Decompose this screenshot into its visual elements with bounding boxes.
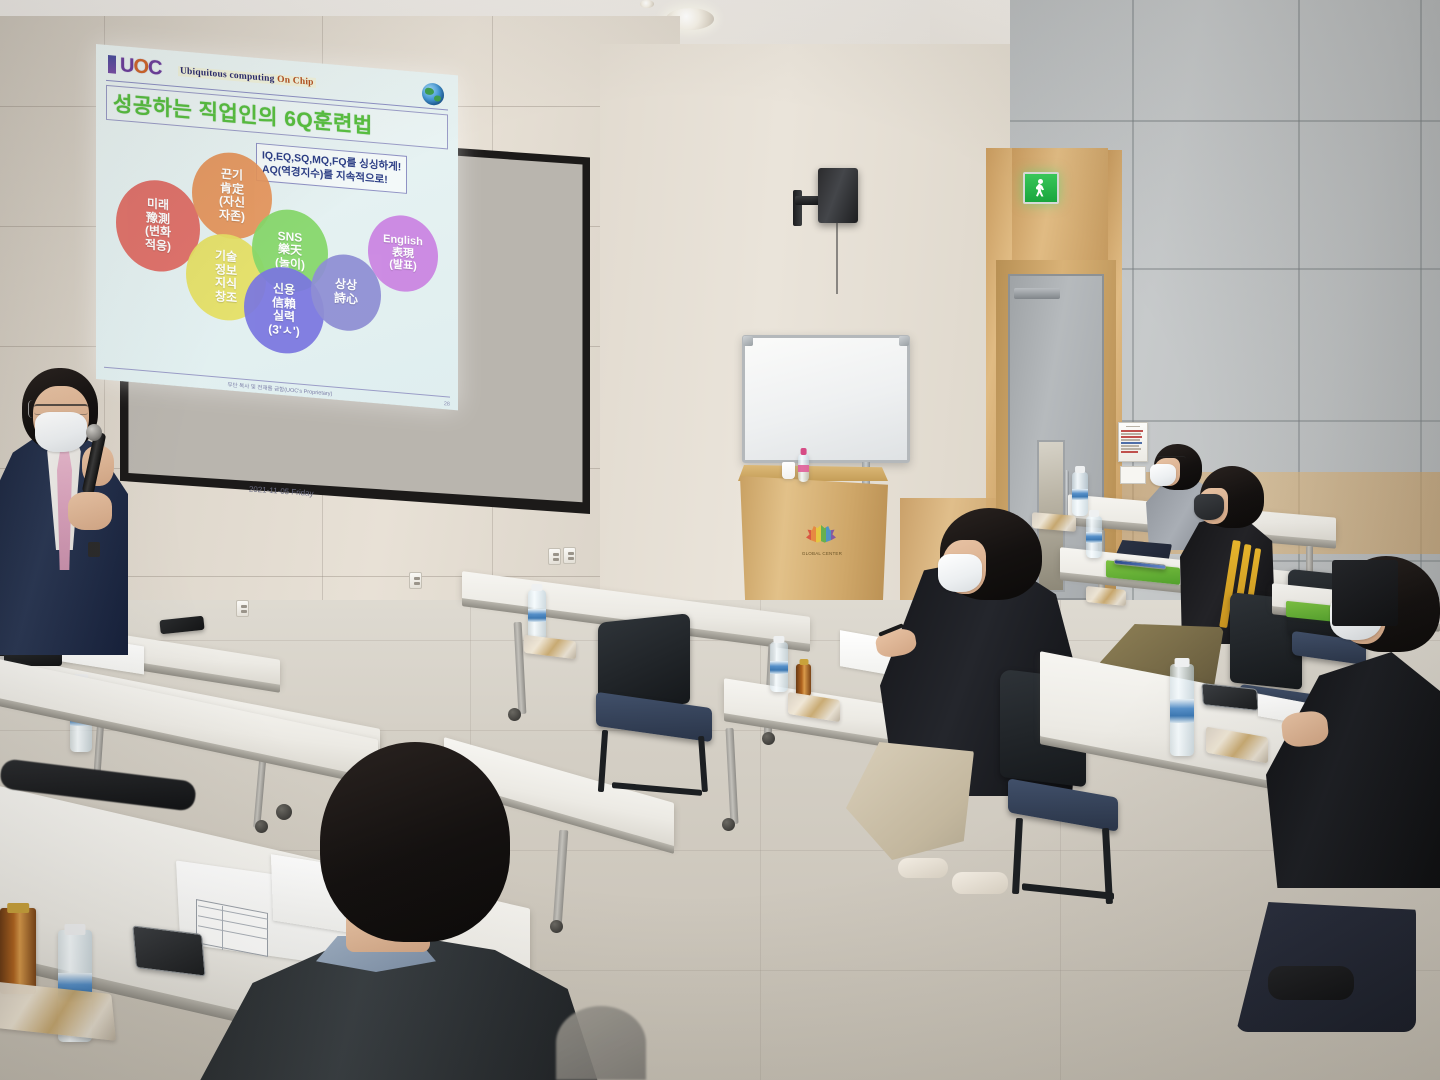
podium-cup <box>782 462 795 479</box>
attendee-center-foot <box>898 858 948 878</box>
bubble-label: SNS樂天(놀이) <box>275 229 305 272</box>
attendee-back-face-mask <box>1150 464 1176 486</box>
desk-caster <box>722 818 735 831</box>
mask-ear-loop <box>28 400 37 418</box>
bubble-diagram: IQ,EQ,SQ,MQ,FQ를 싱싱하게! AQ(역경지수)를 지속적으로! 미… <box>106 124 448 386</box>
water-bottle <box>1072 472 1088 516</box>
globe-icon <box>422 82 444 106</box>
smartphone[interactable] <box>132 925 205 976</box>
wall-wood-trim <box>1012 148 1108 266</box>
tea-bottle <box>796 664 811 696</box>
desk-caster <box>255 820 268 833</box>
ceiling-downlight-icon <box>640 0 654 8</box>
running-man-icon <box>1035 179 1048 198</box>
water-bottle <box>1170 664 1194 756</box>
pa-speaker-icon <box>818 168 858 223</box>
uoc-logo-o: O <box>133 55 148 78</box>
uoc-logo-bar-icon <box>108 55 116 74</box>
uoc-tagline-a: Ubiquitous computing <box>180 66 277 84</box>
attendee-center-foot <box>952 872 1008 894</box>
bubble-label: 기술정보지식창조 <box>215 249 237 305</box>
attendee-front-head <box>320 742 510 942</box>
attendee-midright-face-mask <box>1194 494 1224 520</box>
slide-page-number: 28 <box>444 401 450 408</box>
presenter-face-mask <box>35 412 87 452</box>
water-bottle <box>770 642 788 692</box>
attendee-rightedge-shoe <box>1268 966 1354 1000</box>
wall-notice-poster <box>1118 422 1148 462</box>
uoc-logo-tagline: Ubiquitous computing On Chip <box>178 66 316 88</box>
water-bottle <box>798 454 809 482</box>
uoc-logo-wordmark: UOC <box>120 54 161 81</box>
whiteboard <box>742 335 910 463</box>
presenter-hand <box>68 492 112 530</box>
foreground-chair-back[interactable] <box>556 1006 646 1080</box>
bubble-label: 끈기肯定(자신자존) <box>219 168 245 224</box>
bubble-label: 상상詩心 <box>334 278 358 307</box>
attendee-center-face-mask <box>938 554 982 592</box>
attendee-back-glasses <box>1156 456 1186 462</box>
water-bottle <box>528 590 546 640</box>
rear-monitor <box>1332 560 1398 626</box>
desk-caster <box>276 804 292 820</box>
tea-bottle <box>0 908 36 994</box>
desk-caster <box>762 732 775 745</box>
speaker-cable <box>836 222 838 294</box>
door-closer-hardware <box>1014 288 1060 299</box>
desk-caster <box>508 708 521 721</box>
wall-power-outlet[interactable] <box>409 572 422 589</box>
water-bottle <box>1086 516 1102 558</box>
slide-callout-box: IQ,EQ,SQ,MQ,FQ를 싱싱하게! AQ(역경지수)를 지속적으로! <box>256 143 407 194</box>
wall-power-outlet[interactable] <box>548 548 561 565</box>
uoc-logo-u: U <box>120 54 133 77</box>
uoc-tagline-b: On Chip <box>277 75 314 88</box>
microphone-head-icon <box>86 424 102 441</box>
uoc-logo-c: C <box>148 56 161 79</box>
bubble-label: 신용信賴실력(3'ㅅ') <box>268 282 299 339</box>
podium-organization-text: GLOBAL CENTER <box>800 551 844 556</box>
desk-caster <box>550 920 563 933</box>
handout-rule <box>222 906 223 950</box>
room-scene: UOC Ubiquitous computing On Chip 성공하는 직업… <box>0 0 1440 1080</box>
wall-notice-small <box>1120 466 1146 484</box>
emergency-exit-sign <box>1023 172 1059 204</box>
wall-power-outlet[interactable] <box>236 600 249 617</box>
projected-slide: UOC Ubiquitous computing On Chip 성공하는 직업… <box>96 44 458 410</box>
wall-power-outlet[interactable] <box>563 547 576 564</box>
bubble-label: English表現(발표) <box>383 233 423 274</box>
bubble-label: 미래豫測(변화적응) <box>145 198 171 254</box>
presenter-badge <box>88 542 100 557</box>
